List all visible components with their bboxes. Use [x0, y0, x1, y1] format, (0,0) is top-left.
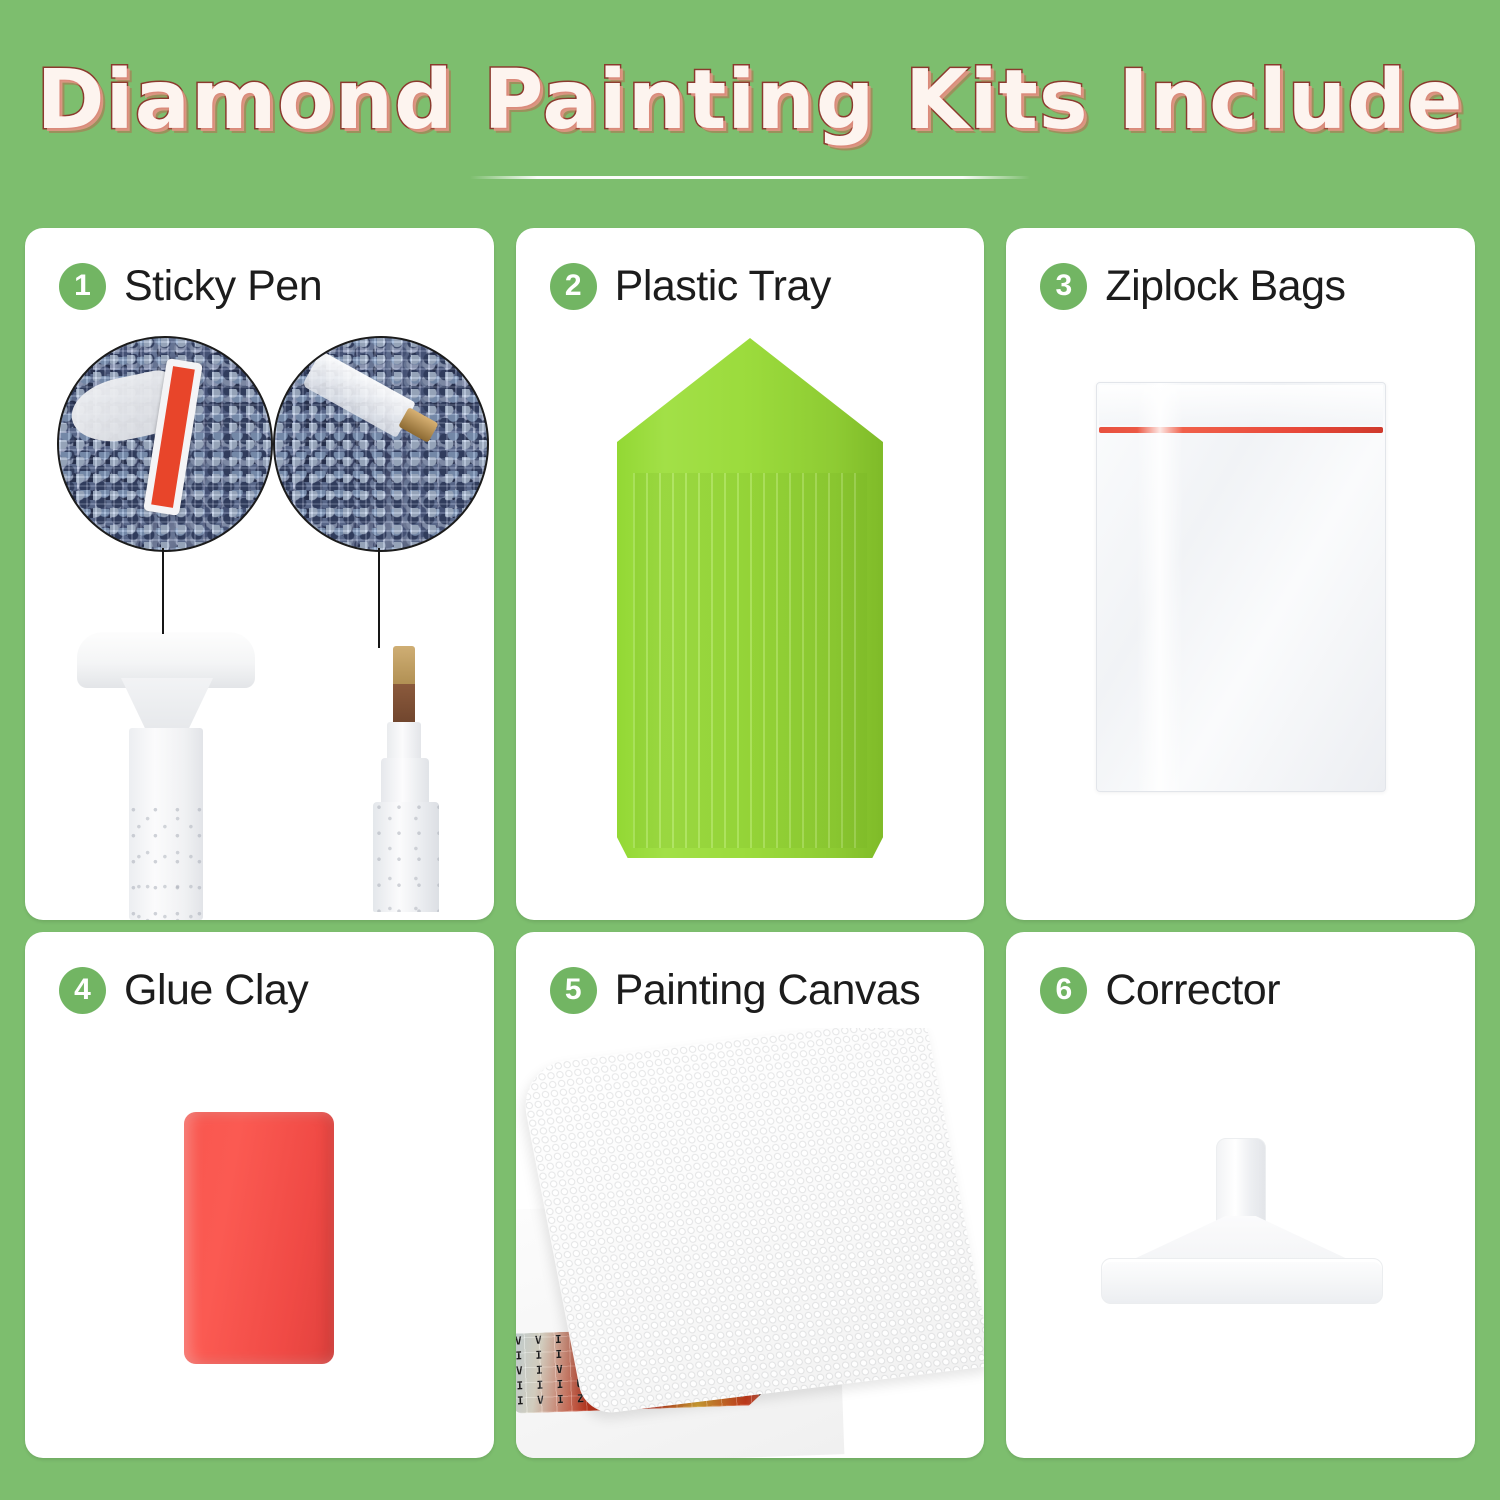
- card-ziplock-bags[interactable]: 3 Ziplock Bags: [1006, 228, 1475, 920]
- corrector-blade: [1101, 1258, 1383, 1304]
- leader-line-right: [378, 548, 380, 648]
- card-header: 5 Painting Canvas: [550, 962, 921, 1018]
- card-glue-clay[interactable]: 4 Glue Clay: [25, 932, 494, 1458]
- corrector-illustration: [1006, 1028, 1475, 1458]
- title-divider: [470, 176, 1030, 179]
- sticky-pen-illustration: [25, 324, 494, 920]
- canvas-textured-sheet: [517, 1028, 985, 1416]
- pen-midsection: [381, 758, 429, 808]
- page-title: Diamond Painting Kits Include: [36, 46, 1463, 156]
- ziplock-bag-icon: [1096, 382, 1386, 792]
- bag-sheen: [1137, 383, 1183, 791]
- step-badge-2: 2: [550, 263, 597, 310]
- step-badge-1: 1: [59, 263, 106, 310]
- card-header: 4 Glue Clay: [59, 962, 308, 1018]
- placer-neck: [121, 678, 213, 732]
- card-header: 6 Corrector: [1040, 962, 1280, 1018]
- plastic-tray-icon: [617, 338, 883, 858]
- pen-closeup-icon: [276, 337, 461, 506]
- card-title-painting-canvas: Painting Canvas: [615, 966, 921, 1015]
- card-header: 1 Sticky Pen: [59, 258, 322, 314]
- placer-shaft: [129, 728, 203, 920]
- card-title-ziplock-bags: Ziplock Bags: [1105, 262, 1345, 311]
- pen-tip-brass: [393, 646, 415, 686]
- card-header: 2 Plastic Tray: [550, 258, 831, 314]
- canvas-stack: V V I I T J G G G G C G G G I I I T G G …: [516, 1028, 985, 1458]
- placer-closeup-icon: [77, 356, 207, 534]
- corrector-tool-icon: [1101, 1138, 1381, 1308]
- kit-contents-grid: 1 Sticky Pen: [25, 228, 1475, 1458]
- glue-clay-illustration: [25, 1028, 494, 1458]
- step-badge-6: 6: [1040, 967, 1087, 1014]
- step-badge-4: 4: [59, 967, 106, 1014]
- card-header: 3 Ziplock Bags: [1040, 258, 1345, 314]
- step-badge-3: 3: [1040, 263, 1087, 310]
- zoom-bubble-placer-on-beads: [57, 336, 273, 552]
- card-plastic-tray[interactable]: 2 Plastic Tray: [516, 228, 985, 920]
- card-title-glue-clay: Glue Clay: [124, 966, 308, 1015]
- glue-clay-icon: [184, 1112, 334, 1364]
- page-title-container: Diamond Painting Kits Include: [0, 46, 1500, 156]
- painting-canvas-illustration: V V I I T J G G G G C G G G I I I T G G …: [516, 1028, 985, 1458]
- card-title-plastic-tray: Plastic Tray: [615, 262, 831, 311]
- step-badge-5: 5: [550, 967, 597, 1014]
- pen-body: [373, 802, 439, 912]
- card-painting-canvas[interactable]: 5 Painting Canvas V V I I T J G G G G C …: [516, 932, 985, 1458]
- card-title-sticky-pen: Sticky Pen: [124, 262, 322, 311]
- multi-placer-tool-icon: [77, 632, 255, 912]
- leader-line-left: [162, 548, 164, 634]
- ziplock-bag-illustration: [1006, 324, 1475, 920]
- zoom-bubble-pen-on-beads: [273, 336, 489, 552]
- card-sticky-pen[interactable]: 1 Sticky Pen: [25, 228, 494, 920]
- plastic-tray-illustration: [516, 324, 985, 920]
- drill-pen-icon: [365, 646, 451, 912]
- card-corrector[interactable]: 6 Corrector: [1006, 932, 1475, 1458]
- card-title-corrector: Corrector: [1105, 966, 1280, 1015]
